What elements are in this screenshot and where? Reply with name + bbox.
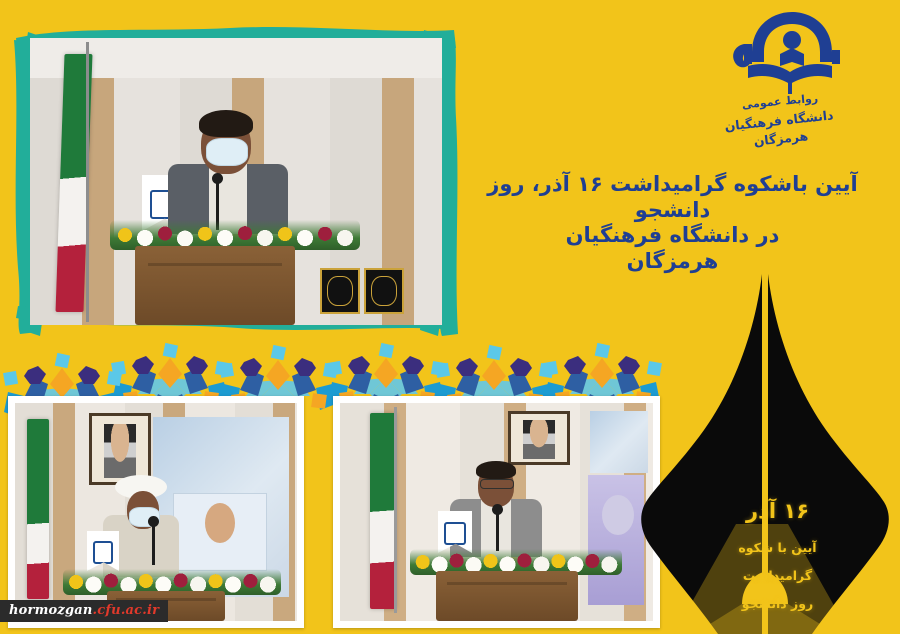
photo-main-speaker: [10, 18, 460, 343]
flag-pole: [86, 42, 89, 322]
lamp-banner-line-2: گرامیداشت: [690, 566, 865, 585]
podium: [436, 571, 578, 621]
headline-line-3: هرمزگان: [455, 249, 890, 275]
headline-line-2: در دانشگاه فرهنگیان: [455, 223, 890, 249]
main-photo-image: [30, 38, 442, 325]
flag-pole: [394, 407, 397, 613]
poster-canvas: روابط عمومی دانشگاه فرهنگیان هرمزگان آیی…: [0, 0, 900, 634]
portrait-face: [104, 424, 135, 478]
microphone: [152, 523, 155, 565]
site-watermark: hormozgan.cfu.ac.ir: [0, 600, 168, 622]
eyeglasses-icon: [480, 479, 514, 489]
headline-block: آیین باشکوه گرامیداشت ۱۶ آذر، روز دانشجو…: [455, 172, 890, 274]
headline-line-1: آیین باشکوه گرامیداشت ۱۶ آذر، روز دانشجو: [455, 172, 890, 223]
lamp-banner-date: ۱۶ آذر: [690, 500, 865, 523]
iran-flag: [370, 413, 396, 609]
portrait-face: [523, 420, 554, 459]
lamp-banner-line-3: روز دانشجو: [690, 594, 865, 613]
photo-bottom-left-cleric: [15, 403, 297, 621]
logo-mark-icon: [718, 6, 858, 102]
photo-bottom-right-speaker: [340, 403, 653, 621]
face-mask: [206, 138, 248, 166]
screen-slide-face: [205, 503, 235, 543]
watermark-site-name: hormozgan: [9, 603, 93, 618]
quran-stand: [364, 268, 404, 314]
microphone: [496, 511, 499, 551]
speaker-hair: [199, 110, 253, 137]
quran-stand: [320, 268, 360, 314]
podium: [135, 246, 295, 325]
iran-flag: [27, 419, 49, 599]
khomeini-portrait: [508, 411, 570, 465]
logo-block: روابط عمومی دانشگاه فرهنگیان هرمزگان: [700, 6, 860, 156]
lamp-banner-line-1: آیین با شکوه: [690, 538, 865, 557]
speaker-hair: [476, 461, 516, 479]
watermark-domain: .cfu.ac.ir: [93, 603, 160, 618]
